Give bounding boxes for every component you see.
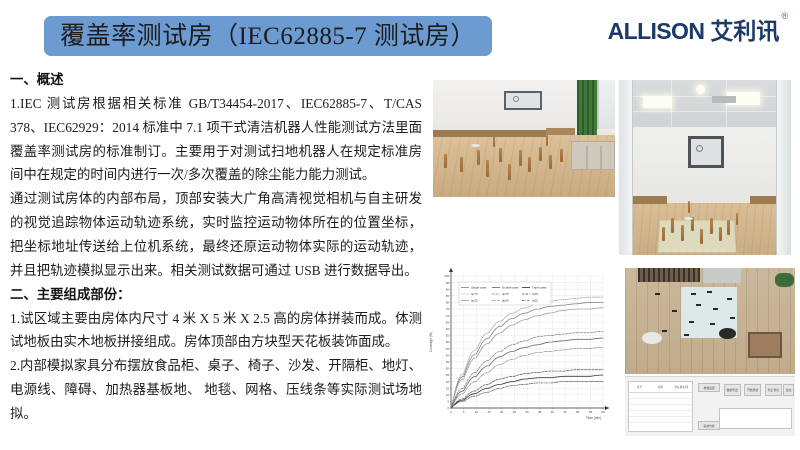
svg-text:35: 35 <box>446 360 450 364</box>
svg-text:Time (min): Time (min) <box>586 416 601 420</box>
baseboard-right <box>546 128 575 135</box>
tracking-marker <box>691 293 696 295</box>
chart-svg: Single passsp75sp25Double passdp75dp25Tr… <box>425 262 617 442</box>
floor-pole <box>688 201 690 213</box>
tracking-marker <box>727 298 732 300</box>
floor-peg <box>444 154 447 168</box>
floor-peg <box>727 220 730 235</box>
tracking-marker <box>684 334 689 336</box>
frame-circle-icon <box>513 96 519 102</box>
svg-text:65: 65 <box>446 320 450 324</box>
floor-pole <box>736 213 738 225</box>
table-row[interactable] <box>629 417 692 423</box>
floor-peg <box>460 157 463 172</box>
svg-text:25: 25 <box>446 373 450 377</box>
legend-label: Double pass <box>502 286 519 290</box>
pole-base <box>684 217 693 220</box>
table-header-cell: 坐标值/时间 <box>671 385 692 389</box>
floor-peg <box>700 229 703 244</box>
allison-logo: ALLISON 艾利讯 ® <box>608 20 788 43</box>
green-curtain <box>577 80 597 136</box>
svg-text:45: 45 <box>446 347 450 351</box>
table-header-cell: 名称 <box>650 385 671 389</box>
legend-label: sp75 <box>471 292 478 296</box>
chart-legend: Single passsp75sp25Double passdp75dp25Tr… <box>459 282 551 305</box>
floor-peg <box>539 147 542 161</box>
svg-text:0: 0 <box>450 410 452 414</box>
exit-button[interactable]: 退出 <box>783 384 793 396</box>
registered-trademark-icon: ® <box>781 11 788 21</box>
door-frame-right <box>776 80 791 255</box>
svg-text:20: 20 <box>500 410 504 414</box>
floor-peg <box>477 150 480 165</box>
tracking-marker <box>689 321 694 323</box>
svg-text:55: 55 <box>589 410 593 414</box>
settings-button[interactable]: 参数设置 <box>698 383 720 392</box>
svg-text:40: 40 <box>446 353 450 357</box>
section-2-heading: 二、主要组成部份： <box>10 283 422 307</box>
section-1-heading: 一、概述 <box>10 68 422 92</box>
svg-text:5: 5 <box>447 400 449 404</box>
svg-text:100: 100 <box>444 274 449 278</box>
coverage-time-chart: Single passsp75sp25Double passdp75dp25Tr… <box>425 262 617 442</box>
data-table: 序号 名称 坐标值/时间 <box>628 381 693 432</box>
section-2-paragraph-2: 2.内部模拟家具分布摆放食品柜、桌子、椅子、沙发、开隔柜、地灯、电源线、障碍、加… <box>10 354 422 426</box>
floor-pole <box>546 135 548 146</box>
floor-peg <box>499 148 502 162</box>
svg-text:40: 40 <box>551 410 555 414</box>
svg-text:55: 55 <box>446 334 450 338</box>
floor-peg <box>671 218 674 233</box>
potted-plant <box>775 273 794 287</box>
legend-label: sp25 <box>471 299 478 303</box>
floor-peg <box>719 227 722 241</box>
svg-text:70: 70 <box>446 314 450 318</box>
slide-header: 覆盖率测试房（IEC62885-7 测试房） ALLISON 艾利讯 ® <box>0 0 800 66</box>
wall-mounted-frame <box>504 91 542 111</box>
window-panel <box>597 80 615 129</box>
svg-text:30: 30 <box>525 410 529 414</box>
floor-peg <box>662 227 665 241</box>
legend-label: Single pass <box>471 286 487 290</box>
tracking-marker <box>696 304 701 306</box>
svg-text:50: 50 <box>446 340 450 344</box>
ceiling-vent <box>712 96 736 103</box>
trajectory-button[interactable]: 轨迹分析 <box>698 421 720 430</box>
svg-text:15: 15 <box>446 386 450 390</box>
ceiling-vent <box>703 268 741 283</box>
legend-label: dp25 <box>502 299 509 303</box>
section-1-paragraph-2: 通过测试房体的内部布局，顶部安装大广角高清视觉相机与自主研发的视觉追踪物体运动轨… <box>10 187 422 282</box>
export-data-button[interactable]: 数据导出 <box>724 384 741 396</box>
svg-text:15: 15 <box>487 410 491 414</box>
svg-text:80: 80 <box>446 301 450 305</box>
svg-text:45: 45 <box>563 410 567 414</box>
logo-cjk-text: 艾利讯 <box>710 20 779 43</box>
tracking-marker <box>713 308 718 310</box>
legend-label: Triple pass <box>532 286 547 290</box>
tracking-marker <box>662 330 667 332</box>
software-control-panel: 序号 名称 坐标值/时间 参数设置 轨迹分析 数据导出 开始测试 停止测试 退出 <box>625 376 796 436</box>
svg-text:60: 60 <box>446 327 450 331</box>
svg-text:10: 10 <box>446 393 450 397</box>
svg-text:35: 35 <box>538 410 542 414</box>
baseboard-left <box>433 130 546 136</box>
tracking-marker <box>707 291 712 293</box>
tracking-marker <box>672 310 677 312</box>
svg-text:Coverage (%): Coverage (%) <box>429 332 433 352</box>
svg-text:90: 90 <box>446 287 450 291</box>
tracking-marker <box>730 317 735 319</box>
log-textbox[interactable] <box>719 408 792 429</box>
floor-peg <box>486 160 489 177</box>
svg-text:60: 60 <box>601 410 605 414</box>
svg-text:0: 0 <box>447 406 449 410</box>
svg-text:75: 75 <box>446 307 450 311</box>
photo-test-room-wide <box>619 80 791 255</box>
svg-text:50: 50 <box>576 410 580 414</box>
media-grid: Single passsp75sp25Double passdp75dp25Tr… <box>425 66 800 448</box>
legend-label: tp75 <box>532 292 538 296</box>
floor-peg <box>519 150 522 166</box>
table-header-row: 序号 名称 坐标值/时间 <box>629 382 692 394</box>
svg-text:30: 30 <box>446 367 450 371</box>
section-1-paragraph-1: 1.IEC 测试房根据相关标准 GB/T34454-2017、IEC62885-… <box>10 92 422 187</box>
svg-text:25: 25 <box>513 410 517 414</box>
robot-device <box>719 328 736 339</box>
floor-peg <box>710 218 713 234</box>
ceiling-beam-strip <box>638 268 700 282</box>
body-text-column: 一、概述 1.IEC 测试房根据相关标准 GB/T34454-2017、IEC6… <box>10 68 422 443</box>
slide-page: 覆盖率测试房（IEC62885-7 测试房） ALLISON 艾利讯 ® 一、概… <box>0 0 800 450</box>
svg-text:10: 10 <box>475 410 479 414</box>
photo-test-room-pegs <box>433 80 615 197</box>
floor-peg <box>508 164 511 180</box>
pendant-lamp <box>696 85 705 94</box>
svg-text:95: 95 <box>446 281 450 285</box>
camera-overhead-view <box>625 268 796 375</box>
floor-peg <box>681 225 684 241</box>
svg-text:5: 5 <box>463 410 465 414</box>
title-banner: 覆盖率测试房（IEC62885-7 测试房） <box>44 16 492 56</box>
door-frame-left <box>619 80 633 255</box>
start-test-button[interactable]: 开始测试 <box>744 384 761 396</box>
cardboard-box <box>571 141 615 170</box>
test-carpet <box>657 221 735 252</box>
stop-test-button[interactable]: 停止测试 <box>765 384 782 396</box>
floor-peg <box>528 157 531 172</box>
floor-pole <box>493 136 495 147</box>
legend-label: dp75 <box>502 292 509 296</box>
photo-software-topdown-ui: 序号 名称 坐标值/时间 参数设置 轨迹分析 数据导出 开始测试 停止测试 退出 <box>621 266 799 438</box>
logo-latin-text: ALLISON <box>608 20 705 43</box>
page-title: 覆盖率测试房（IEC62885-7 测试房） <box>60 24 476 49</box>
table-header-cell: 序号 <box>629 385 650 389</box>
ceiling-light <box>643 96 672 108</box>
tracking-marker <box>655 293 660 295</box>
section-2-paragraph-1: 1.试区域主要由房体内尺寸 4 米 X 5 米 X 2.5 高的房体拼装而成。体… <box>10 307 422 355</box>
legend-label: tp25 <box>532 299 538 303</box>
tracking-marker <box>710 323 715 325</box>
svg-text:85: 85 <box>446 294 450 298</box>
floor-peg <box>560 149 563 162</box>
furniture-object <box>748 332 782 359</box>
wall-mounted-frame <box>688 136 724 168</box>
svg-text:20: 20 <box>446 380 450 384</box>
